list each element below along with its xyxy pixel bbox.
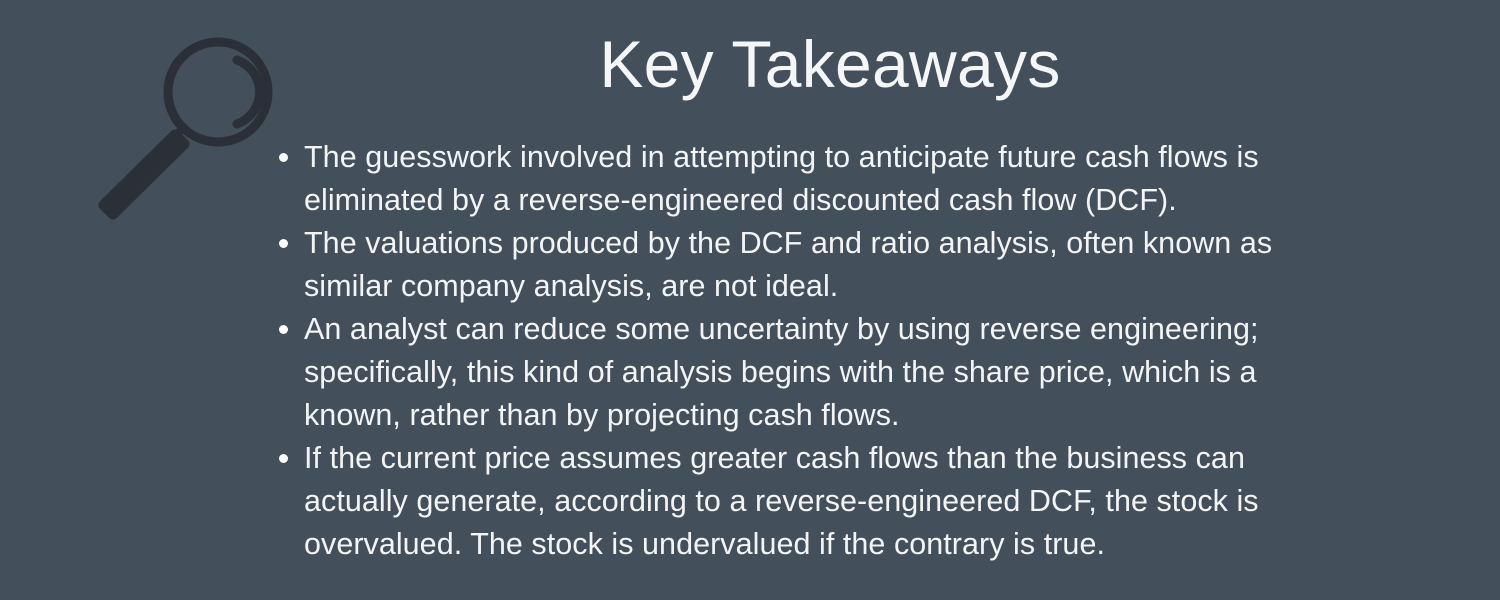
page-title: Key Takeaways [300, 28, 1360, 102]
takeaway-text: The guesswork involved in attempting to … [304, 136, 1347, 222]
bullet-icon [279, 239, 288, 248]
key-takeaways-slide: Key Takeaways The guesswork involved in … [0, 0, 1500, 600]
list-item: The valuations produced by the DCF and r… [272, 222, 1347, 308]
takeaways-list: The guesswork involved in attempting to … [272, 136, 1347, 566]
takeaway-text: If the current price assumes greater cas… [304, 437, 1347, 566]
list-item: If the current price assumes greater cas… [272, 437, 1347, 566]
bullet-icon [279, 454, 288, 463]
takeaway-text: An analyst can reduce some uncertainty b… [304, 308, 1347, 437]
list-item: The guesswork involved in attempting to … [272, 136, 1347, 222]
list-item: An analyst can reduce some uncertainty b… [272, 308, 1347, 437]
magnifying-glass-icon [80, 18, 300, 238]
bullet-icon [279, 153, 288, 162]
bullet-icon [279, 325, 288, 334]
takeaway-text: The valuations produced by the DCF and r… [304, 222, 1347, 308]
